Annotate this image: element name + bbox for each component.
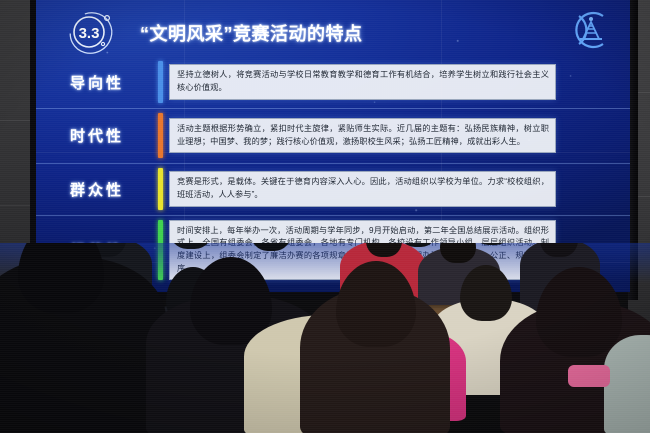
table-row: 群众性 竞赛是形式，是载体。关键在于德育内容深入人心。因此，活动组织以学校为单位…: [36, 163, 630, 215]
section-number-badge: 3.3: [66, 10, 118, 56]
desk-object: [568, 365, 610, 387]
row-text-shidaixing: 活动主题根据形势确立，紧扣时代主旋律，紧贴师生实际。近几届的主题有：弘扬民族精神…: [169, 118, 556, 153]
section-number-text: 3.3: [79, 25, 100, 42]
row-text-daoxiangxing: 坚持立德树人，将竞赛活动与学校日常教育教学和德育工作有机结合，培养学生树立和践行…: [169, 64, 556, 99]
row-accent-bar: [158, 113, 163, 158]
row-text-qunzhongxing: 竞赛是形式，是载体。关键在于德育内容深入人心。因此，活动组织以学校为单位。力求“…: [169, 171, 556, 206]
screenshot-root: 3.3 “文明风采”竞赛活动的特点 导向性 坚持立德树人，将竞赛活动与学校日常教…: [0, 0, 650, 433]
audience-head: [18, 243, 104, 313]
tower-in-circle-logo-icon: [570, 8, 612, 52]
row-label-daoxiangxing: 导向性: [36, 72, 158, 93]
slide-title: “文明风采”竞赛活动的特点: [140, 20, 363, 46]
row-label-shidaixing: 时代性: [36, 125, 158, 146]
audience-body: [604, 335, 650, 433]
row-accent-bar: [158, 61, 163, 103]
row-label-qunzhongxing: 群众性: [36, 179, 158, 200]
table-row: 导向性 坚持立德树人，将竞赛活动与学校日常教育教学和德育工作有机结合，培养学生树…: [36, 56, 630, 108]
table-row: 时代性 活动主题根据形势确立，紧扣时代主旋律，紧贴师生实际。近几届的主题有：弘扬…: [36, 108, 630, 163]
row-accent-bar: [158, 168, 163, 210]
audience-foreground: [0, 243, 650, 433]
